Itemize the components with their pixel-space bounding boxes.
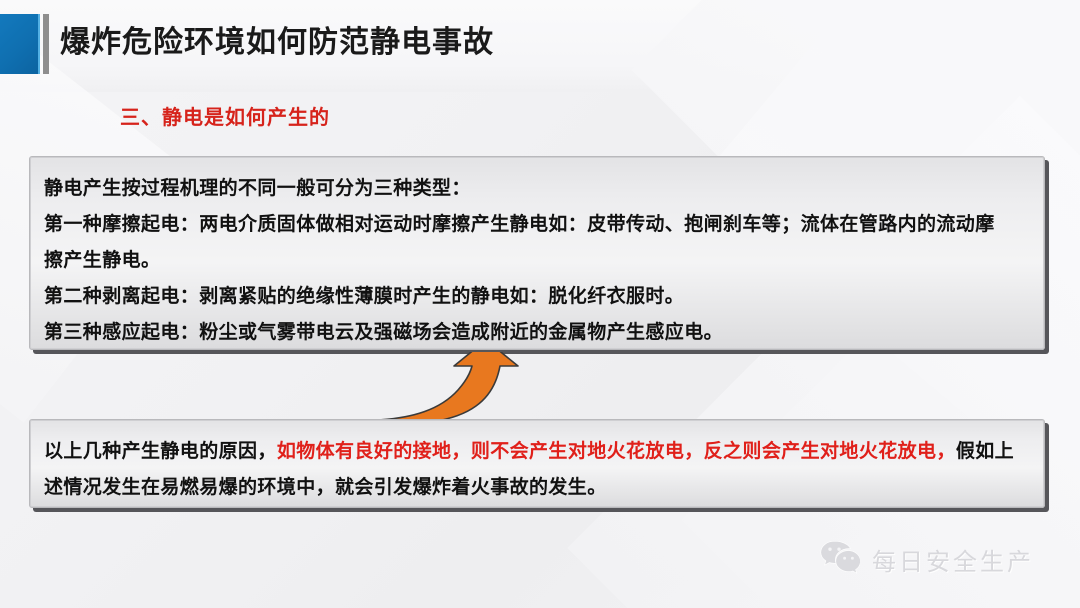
header-accent-square <box>0 14 40 74</box>
main-line-2: 第一种摩擦起电：两电介质固体做相对运动时摩擦产生静电如：皮带传动、抱闸刹车等；流… <box>44 207 1030 243</box>
main-line-1: 静电产生按过程机理的不同一般可分为三种类型： <box>44 171 1030 207</box>
conclusion-text-emphasis: 如物体有良好的接地，则不会产生对地火花放电，反之则会产生对地火花放电， <box>277 441 956 462</box>
section-heading: 三、静电是如何产生的 <box>120 101 330 130</box>
curved-up-arrow-icon <box>372 352 532 424</box>
conclusion-paragraph: 以上几种产生静电的原因，如物体有良好的接地，则不会产生对地火花放电，反之则会产生… <box>44 434 1030 506</box>
main-line-4: 第二种剥离起电：剥离紧贴的绝缘性薄膜时产生的静电如：脱化纤衣服时。 <box>44 279 1030 315</box>
conclusion-content-box: 以上几种产生静电的原因，如物体有良好的接地，则不会产生对地火花放电，反之则会产生… <box>29 419 1045 508</box>
main-content-body: 静电产生按过程机理的不同一般可分为三种类型： 第一种摩擦起电：两电介质固体做相对… <box>30 157 1044 351</box>
main-line-5: 第三种感应起电：粉尘或气雾带电云及强磁场会造成附近的金属物产生感应电。 <box>44 315 1030 351</box>
conclusion-text-part-1: 以上几种产生静电的原因， <box>44 441 277 462</box>
slide-canvas: 爆炸危险环境如何防范静电事故 三、静电是如何产生的 静电产生按过程机理的不同一般… <box>0 0 1080 608</box>
wechat-icon <box>820 540 860 579</box>
main-line-3: 擦产生静电。 <box>44 243 1030 279</box>
page-title: 爆炸危险环境如何防范静电事故 <box>60 17 494 61</box>
watermark-label: 每日安全生产 <box>872 542 1034 577</box>
main-content-box: 静电产生按过程机理的不同一般可分为三种类型： 第一种摩擦起电：两电介质固体做相对… <box>29 156 1045 350</box>
header-accent-bar <box>43 14 49 74</box>
conclusion-content-body: 以上几种产生静电的原因，如物体有良好的接地，则不会产生对地火花放电，反之则会产生… <box>30 420 1044 506</box>
watermark: 每日安全生产 <box>820 540 1034 579</box>
